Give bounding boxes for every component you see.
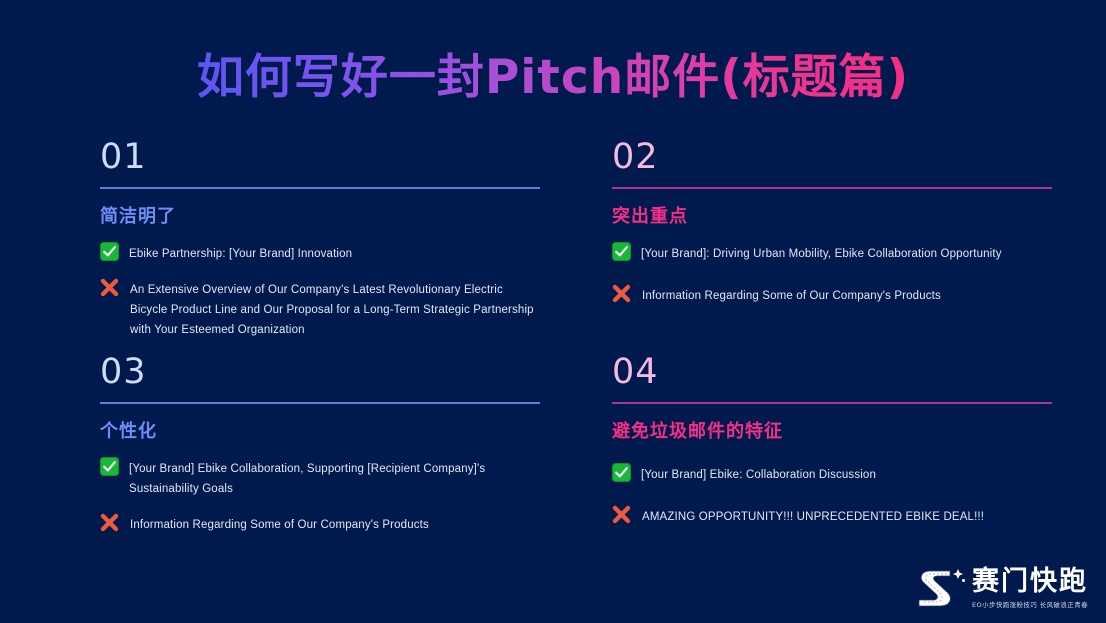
list-item: [Your Brand] Ebike: Collaboration Discus… xyxy=(612,465,1052,485)
bullet-text: Information Regarding Some of Our Compan… xyxy=(642,286,941,306)
section-number: 01 xyxy=(100,140,540,175)
section-02: 02 突出重点 [Your Brand]: Driving Urban Mobi… xyxy=(612,140,1052,322)
list-item: [Your Brand]: Driving Urban Mobility, Eb… xyxy=(612,244,1052,264)
sections-row-1: 01 简洁明了 Ebike Partnership: [Your Brand] … xyxy=(0,140,1106,355)
list-item: AMAZING OPPORTUNITY!!! UNPRECEDENTED EBI… xyxy=(612,507,1052,527)
section-divider xyxy=(100,187,540,189)
section-number: 03 xyxy=(100,355,540,390)
check-icon xyxy=(100,457,119,476)
section-number: 02 xyxy=(612,140,1052,175)
brand-logo: 赛门快跑 EO小步快跑涨粉技巧 长风破浪正青春 xyxy=(916,565,1088,611)
list-item: Information Regarding Some of Our Compan… xyxy=(612,286,1052,306)
bullet-text: Information Regarding Some of Our Compan… xyxy=(130,515,429,535)
section-04: 04 避免垃圾邮件的特征 [Your Brand] Ebike: Collabo… xyxy=(612,355,1052,543)
section-heading: 突出重点 xyxy=(612,202,1052,228)
logo-name: 赛门快跑 xyxy=(972,568,1088,595)
bullet-list: [Your Brand] Ebike: Collaboration Discus… xyxy=(612,465,1052,527)
title-container: 如何写好一封Pitch邮件(标题篇) xyxy=(0,52,1106,104)
section-01: 01 简洁明了 Ebike Partnership: [Your Brand] … xyxy=(100,140,540,357)
bullet-text: [Your Brand] Ebike: Collaboration Discus… xyxy=(641,465,876,485)
bullet-text: Ebike Partnership: [Your Brand] Innovati… xyxy=(129,244,352,264)
bullet-list: [Your Brand]: Driving Urban Mobility, Eb… xyxy=(612,244,1052,306)
check-icon xyxy=(612,242,631,261)
bullet-text: AMAZING OPPORTUNITY!!! UNPRECEDENTED EBI… xyxy=(642,507,984,527)
list-item: An Extensive Overview of Our Company's L… xyxy=(100,280,540,340)
bullet-list: [Your Brand] Ebike Collaboration, Suppor… xyxy=(100,459,540,535)
page-title: 如何写好一封Pitch邮件(标题篇) xyxy=(197,52,909,104)
s-swoosh-logo-icon xyxy=(916,565,968,611)
list-item: [Your Brand] Ebike Collaboration, Suppor… xyxy=(100,459,540,499)
section-divider xyxy=(100,402,540,404)
section-heading: 避免垃圾邮件的特征 xyxy=(612,417,1052,443)
section-heading: 简洁明了 xyxy=(100,202,540,228)
sections-grid: 01 简洁明了 Ebike Partnership: [Your Brand] … xyxy=(0,140,1106,570)
bullet-text: [Your Brand]: Driving Urban Mobility, Eb… xyxy=(641,244,1002,264)
bullet-list: Ebike Partnership: [Your Brand] Innovati… xyxy=(100,244,540,341)
slide-root: 如何写好一封Pitch邮件(标题篇) 01 简洁明了 Ebike Partner… xyxy=(0,0,1106,623)
section-divider xyxy=(612,187,1052,189)
section-03: 03 个性化 [Your Brand] Ebike Collaboration,… xyxy=(100,355,540,551)
cross-icon xyxy=(100,278,120,298)
cross-icon xyxy=(612,284,632,304)
cross-icon xyxy=(100,513,120,533)
bullet-text: An Extensive Overview of Our Company's L… xyxy=(130,280,540,340)
check-icon xyxy=(612,463,631,482)
sections-row-2: 03 个性化 [Your Brand] Ebike Collaboration,… xyxy=(0,355,1106,570)
cross-icon xyxy=(612,505,632,525)
logo-tagline: EO小步快跑涨粉技巧 长风破浪正青春 xyxy=(972,599,1088,609)
list-item: Information Regarding Some of Our Compan… xyxy=(100,515,540,535)
bullet-text: [Your Brand] Ebike Collaboration, Suppor… xyxy=(129,459,539,499)
section-number: 04 xyxy=(612,355,1052,390)
check-icon xyxy=(100,242,119,261)
section-divider xyxy=(612,402,1052,404)
list-item: Ebike Partnership: [Your Brand] Innovati… xyxy=(100,244,540,264)
section-heading: 个性化 xyxy=(100,417,540,443)
logo-text-block: 赛门快跑 EO小步快跑涨粉技巧 长风破浪正青春 xyxy=(972,568,1088,609)
